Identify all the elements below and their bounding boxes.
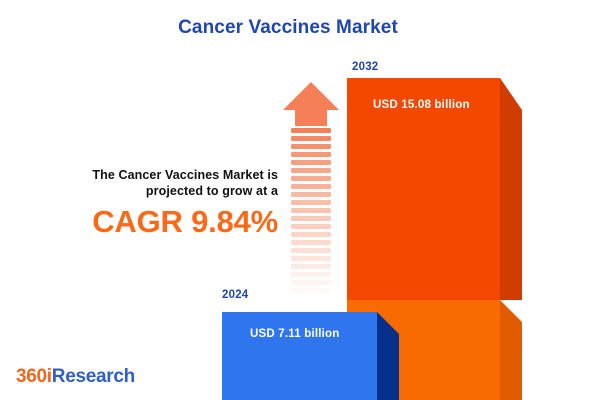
arrow-stripe: [291, 232, 331, 237]
arrow-stripe: [291, 168, 331, 173]
arrow-stripe: [291, 192, 331, 197]
arrow-stripe: [291, 264, 331, 269]
arrow-head-shape: [283, 82, 339, 130]
bar-2032-side-face: [500, 110, 522, 300]
arrow-stripe: [291, 160, 331, 165]
arrow-stripe: [291, 184, 331, 189]
arrow-stripe: [291, 248, 331, 253]
bar-2024-top-bevel: [377, 312, 399, 334]
bar-2032-value-label: USD 15.08 billion: [373, 99, 470, 111]
arrow-stripe: [291, 272, 331, 277]
arrow-stripe: [291, 136, 331, 141]
bar-2024-value-label: USD 7.11 billion: [250, 328, 339, 340]
arrow-stripe: [291, 296, 331, 301]
statement-line-2: projected to grow at a: [30, 183, 278, 199]
page-title: Cancer Vaccines Market: [0, 17, 576, 39]
arrow-stripe: [291, 288, 331, 293]
bar-2032-category-label: 2032: [352, 61, 378, 73]
arrow-stripe: [291, 256, 331, 261]
bar-2024-front-face: [222, 312, 377, 400]
arrow-stripe: [291, 208, 331, 213]
arrow-stripe: [291, 216, 331, 221]
logo-text-research: Research: [52, 366, 135, 387]
cagr-statement-block: The Cancer Vaccines Market is projected …: [30, 167, 278, 239]
arrow-stripe: [291, 152, 331, 157]
bar-2032-lower-side-face: [500, 322, 522, 400]
arrow-stripe: [291, 128, 331, 133]
bar-2024-side-face: [377, 334, 399, 400]
statement-line-1: The Cancer Vaccines Market is: [30, 167, 278, 183]
arrow-stripe: [291, 200, 331, 205]
logo-text-360i: 360i: [16, 366, 52, 387]
arrow-stripe: [291, 224, 331, 229]
bar-2032-front-face: [347, 78, 500, 300]
infographic-canvas: Cancer Vaccines Market The Cancer Vaccin…: [0, 0, 600, 400]
arrow-stripe: [291, 240, 331, 245]
bar-2024-category-label: 2024: [222, 289, 248, 301]
arrow-stripe-stack: [291, 128, 331, 290]
brand-logo: 360iResearch: [16, 366, 135, 388]
arrow-stripe: [291, 144, 331, 149]
arrow-stripe: [291, 280, 331, 285]
arrow-stripe: [291, 176, 331, 181]
bar-2032-top-bevel: [500, 78, 522, 110]
bar-2032-lower-top-bevel: [500, 300, 522, 322]
cagr-value: CAGR 9.84%: [30, 205, 278, 239]
growth-arrow-up-icon: [283, 82, 339, 290]
